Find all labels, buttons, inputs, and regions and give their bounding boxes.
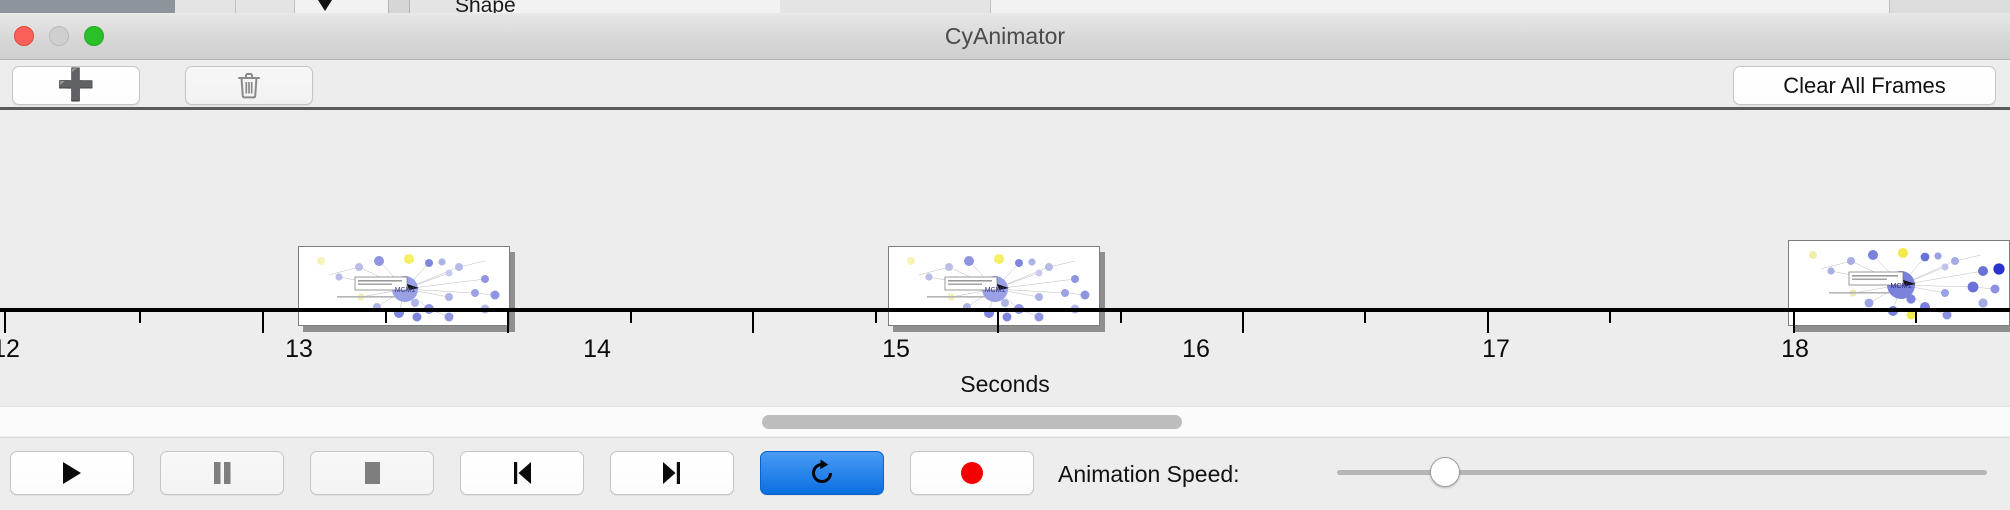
toolbar: ➕ Clear All Frames — [0, 60, 2010, 110]
pause-button[interactable] — [160, 451, 284, 495]
axis-tick-minor — [385, 312, 387, 323]
axis-tick-major — [4, 312, 6, 333]
pause-icon — [209, 459, 235, 487]
network-graph-icon: MCM1 — [889, 247, 1100, 326]
delete-frame-button[interactable] — [185, 66, 313, 105]
skip-to-start-button[interactable] — [460, 451, 584, 495]
add-frame-button[interactable]: ➕ — [12, 66, 140, 105]
axis-tick-major — [752, 312, 754, 333]
frame-thumbnail[interactable]: MCM1 — [298, 246, 510, 326]
axis-tick-minor — [1120, 312, 1122, 323]
thumbnail-image: MCM1 — [298, 246, 510, 326]
axis-tick-major — [1793, 312, 1795, 333]
timeline-axis — [0, 308, 2010, 312]
horizontal-scrollbar[interactable] — [0, 406, 2010, 436]
axis-tick-label: 16 — [1182, 335, 1210, 364]
loop-icon — [807, 458, 837, 488]
page-title: CyAnimator — [0, 13, 2010, 60]
thumbnail-image: MCM1 — [888, 246, 1100, 326]
plus-icon: ➕ — [57, 69, 96, 100]
axis-title: Seconds — [0, 371, 2010, 398]
background-window-shape-label: Shape — [455, 0, 516, 13]
slider-thumb[interactable] — [1430, 457, 1460, 487]
axis-tick-label: 12 — [0, 335, 20, 364]
background-window-segment — [175, 0, 236, 13]
axis-tick-major — [507, 312, 509, 333]
skip-end-icon — [659, 459, 685, 487]
loop-button[interactable] — [760, 451, 884, 495]
record-icon — [958, 459, 986, 487]
trash-icon — [237, 72, 261, 99]
network-graph-icon: MCM1 — [299, 247, 510, 326]
animation-speed-slider[interactable] — [1337, 468, 1987, 476]
axis-tick-minor — [139, 312, 141, 323]
stop-icon — [359, 459, 385, 487]
background-window-strip: Shape — [0, 0, 2010, 13]
axis-tick-label: 14 — [583, 335, 611, 364]
record-button[interactable] — [910, 451, 1034, 495]
axis-tick-minor — [630, 312, 632, 323]
play-button[interactable] — [10, 451, 134, 495]
background-window-dark-segment — [0, 0, 175, 13]
axis-tick-label: 18 — [1781, 335, 1809, 364]
clear-all-frames-button[interactable]: Clear All Frames — [1733, 66, 1996, 105]
axis-tick-minor — [875, 312, 877, 323]
playback-toolbar: Animation Speed: — [0, 437, 2010, 510]
axis-tick-label: 13 — [285, 335, 313, 364]
timeline-panel[interactable]: MCM1 — [0, 113, 2010, 406]
svg-text:MCM1: MCM1 — [395, 287, 416, 294]
background-window-segment — [780, 0, 991, 13]
background-window-right-box — [1889, 0, 2010, 13]
axis-tick-label: 15 — [882, 335, 910, 364]
svg-text:MCM1: MCM1 — [985, 287, 1006, 294]
clear-all-frames-label: Clear All Frames — [1783, 73, 1946, 99]
frame-thumbnail[interactable]: MCM1 — [888, 246, 1100, 326]
background-window-notch — [388, 0, 410, 13]
scrollbar-thumb[interactable] — [762, 415, 1182, 429]
background-window-segment — [236, 0, 295, 13]
axis-tick-minor — [1609, 312, 1611, 323]
network-graph-icon: MCM1 — [1789, 241, 2010, 326]
play-icon — [59, 459, 85, 487]
animation-speed-label: Animation Speed: — [1058, 438, 1240, 510]
cyanimator-window: Shape CyAnimator ➕ Clear All Frames — [0, 0, 2010, 510]
axis-tick-major — [1242, 312, 1244, 333]
svg-text:MCM1: MCM1 — [1890, 281, 1911, 290]
axis-tick-major — [997, 312, 999, 333]
thumbnail-image: MCM1 — [1788, 240, 2010, 326]
skip-start-icon — [509, 459, 535, 487]
axis-tick-minor — [1364, 312, 1366, 323]
axis-tick-label: 17 — [1482, 335, 1510, 364]
skip-to-end-button[interactable] — [610, 451, 734, 495]
stop-button[interactable] — [310, 451, 434, 495]
axis-tick-major — [1487, 312, 1489, 333]
axis-tick-major — [262, 312, 264, 333]
frame-thumbnail[interactable]: MCM1 — [1788, 240, 2010, 326]
title-bar: CyAnimator — [0, 13, 2010, 60]
background-window-cursor-arrow — [318, 0, 332, 11]
axis-tick-minor — [1915, 312, 1917, 323]
